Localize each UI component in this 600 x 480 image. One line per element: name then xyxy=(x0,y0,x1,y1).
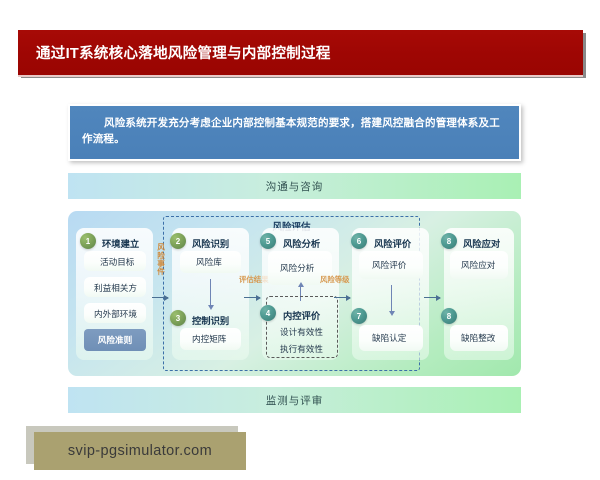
column-identify-title: 风险识别 xyxy=(192,236,229,250)
step-number-1: 1 xyxy=(80,233,96,249)
arrow-evaluation-to-response xyxy=(424,297,440,298)
column-control-identify-title: 控制识别 xyxy=(192,313,229,327)
step-number-3: 3 xyxy=(170,310,186,326)
band-monitoring-label: 监测与评审 xyxy=(266,393,324,408)
arrow-identify-down xyxy=(210,279,211,305)
arrow-analysis-to-evaluation xyxy=(334,297,350,298)
item-execution-effectiveness: 执行有效性 xyxy=(280,343,323,355)
step-number-5: 5 xyxy=(260,233,276,249)
item-risk-analysis: 风险分析 xyxy=(280,262,314,274)
item-control-matrix: 内控矩阵 xyxy=(192,333,226,345)
column-evaluation-title: 风险评价 xyxy=(374,236,411,250)
item-risk-library: 风险库 xyxy=(196,256,222,268)
band-communication: 沟通与咨询 xyxy=(68,173,521,199)
step-number-2: 2 xyxy=(170,233,186,249)
item-risk-criteria[interactable]: 风险准则 xyxy=(84,329,146,351)
step-number-8-response: 8 xyxy=(441,233,457,249)
band-monitoring: 监测与评审 xyxy=(68,387,521,413)
item-stakeholders: 利益相关方 xyxy=(94,282,137,294)
column-internal-control-title: 内控评价 xyxy=(283,308,320,322)
label-risk-event: 风险事件 xyxy=(157,243,165,275)
arrow-evaluation-down xyxy=(391,285,392,311)
item-design-effectiveness: 设计有效性 xyxy=(280,326,323,338)
item-risk-evaluation: 风险评价 xyxy=(372,259,406,271)
step-number-8-remediation: 8 xyxy=(441,308,457,324)
step-number-7: 7 xyxy=(351,308,367,324)
item-defect-identification: 缺陷认定 xyxy=(372,332,406,344)
column-response-title: 风险应对 xyxy=(463,236,500,250)
step-number-4: 4 xyxy=(260,305,276,321)
item-risk-response: 风险应对 xyxy=(461,259,495,271)
band-communication-label: 沟通与咨询 xyxy=(266,179,324,194)
watermark: svip-pgsimulator.com xyxy=(34,432,246,470)
banner-underline xyxy=(18,75,583,77)
arrow-identify-to-analysis xyxy=(244,297,260,298)
subtitle-box: 风险系统开发充分考虑企业内部控制基本规范的要求，搭建风控融合的管理体系及工作流程… xyxy=(68,104,521,161)
item-defect-remediation: 缺陷整改 xyxy=(461,332,495,344)
column-analysis-title: 风险分析 xyxy=(283,236,320,250)
arrow-env-to-identify xyxy=(152,297,168,298)
item-activity-goal: 活动目标 xyxy=(100,256,134,268)
slide-page: 通过IT系统核心落地风险管理与内部控制过程 风险系统开发充分考虑企业内部控制基本… xyxy=(0,0,600,480)
subtitle-text: 风险系统开发充分考虑企业内部控制基本规范的要求，搭建风控融合的管理体系及工作流程… xyxy=(82,115,507,148)
item-internal-external-env: 内外部环境 xyxy=(94,308,137,320)
step-number-6: 6 xyxy=(351,233,367,249)
title-banner: 通过IT系统核心落地风险管理与内部控制过程 xyxy=(18,30,583,75)
label-risk-level: 风险等级 xyxy=(320,274,350,285)
page-title: 通过IT系统核心落地风险管理与内部控制过程 xyxy=(18,42,331,63)
watermark-text: svip-pgsimulator.com xyxy=(68,443,212,459)
column-environment-title: 环境建立 xyxy=(102,236,139,250)
